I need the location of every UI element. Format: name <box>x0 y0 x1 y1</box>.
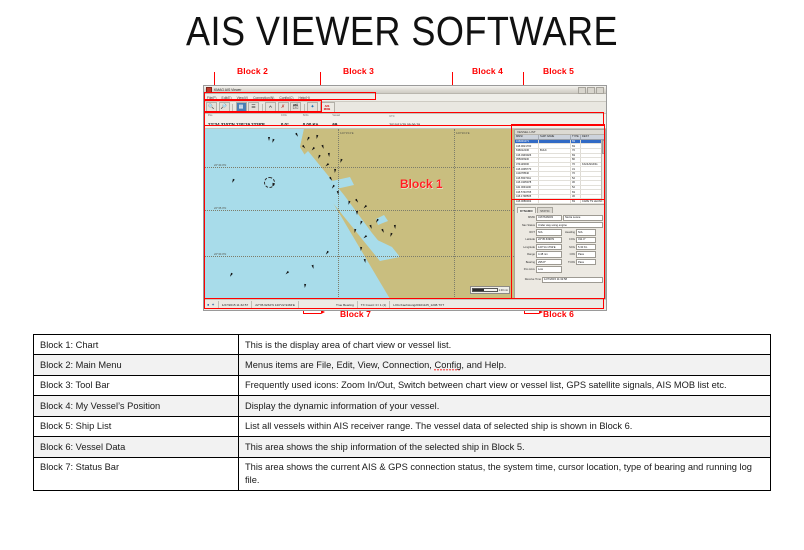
window-controls[interactable] <box>578 87 604 94</box>
latitude-label: Latitude <box>517 238 535 241</box>
position-field: Pos 22°34.3107'N 120°19.2228'E <box>208 122 265 127</box>
rot-value: N/A <box>536 229 562 235</box>
field-row-bearing-tcpa: Bearing 295.8° TCPA Pass <box>517 259 603 265</box>
cell-mmsi: 355006930 <box>515 158 539 162</box>
receive-time-label: Receive Time <box>517 278 541 281</box>
latitude-label: 22°35.0'N <box>214 206 226 210</box>
latitude-gridline <box>204 167 514 168</box>
vessel-marker[interactable] <box>268 137 270 141</box>
field-row-rot-heading: ROT N/A Heading N/A <box>517 229 603 235</box>
minimize-button[interactable] <box>578 87 586 94</box>
range-label: Range <box>517 253 535 256</box>
cell-type: 70 <box>571 172 581 176</box>
ship-list-scrollbar[interactable] <box>601 140 605 202</box>
tool-bar[interactable]: 🔍 🔎 ▦ ☰ ⍲ ✗ 🗃 ✦ AISMOB <box>204 102 606 114</box>
pos-accuracy-label: Pos Accu <box>517 268 535 271</box>
my-vessel-position-bar: Pos 22°34.3107'N 120°19.2228'E COG 0.0° … <box>204 114 606 129</box>
ais-viewer-window: KMAG AIS Viewer File(F) Edit(E) View(V) … <box>203 85 607 311</box>
cog-field: COG 0.0° <box>281 122 289 127</box>
misspelled-word: Config <box>434 360 461 371</box>
rot-label: ROT <box>517 231 535 234</box>
cell-block-name: Block 4: My Vessel’s Position <box>34 396 239 416</box>
cell-mmsi: 416 4993026 <box>515 154 539 158</box>
cell-mmsi: 416 9621700 <box>515 144 539 148</box>
cpa-value: Pass <box>576 251 596 257</box>
range-value: 4.48 nm <box>536 251 562 257</box>
vessel-list-icon[interactable]: ☰ <box>248 102 259 113</box>
field-row-longitude-sog: Longitude 120°14.1792'E SOG 5.30 Kn <box>517 244 603 250</box>
status-connection-icons: ● ✦ <box>204 301 219 308</box>
menu-item-file[interactable]: File(F) <box>207 96 217 100</box>
tcpa-value: Pass <box>576 259 596 265</box>
field-row-pos-accuracy: Pos Accu Low <box>517 266 603 272</box>
window-titlebar: KMAG AIS Viewer <box>204 86 606 94</box>
table-row: Block 2: Main Menu Menus items are File,… <box>34 355 771 375</box>
status-bar: ● ✦ 1/27/2015 11:32:57 22°35.6232'N 120°… <box>204 299 606 309</box>
cog-label: COG <box>563 238 575 241</box>
desc-text-pre: Menus items are File, Edit, View, Connec… <box>245 360 434 370</box>
field-row-mmsi: MMSI 4167646003 Sierra Leone <box>517 215 603 221</box>
table-row: Block 3: Tool Bar Frequently used icons:… <box>34 375 771 395</box>
cell-shipname <box>539 195 571 199</box>
cell-shipname <box>539 186 571 190</box>
status-cursor-location: 22°35.6232'N 120°22.9484'E <box>252 301 299 308</box>
heading-label: Heading <box>563 231 575 234</box>
toolbar-separator <box>304 104 305 112</box>
cell-type: 70 <box>571 163 581 167</box>
cell-block-desc: Menus items are File, Edit, View, Connec… <box>239 355 771 375</box>
cog-value: 0.0° <box>281 122 289 127</box>
cell-block-desc: Frequently used icons: Zoom In/Out, Swit… <box>239 375 771 395</box>
cell-mmsi: 636012236 <box>515 149 539 153</box>
cpa-label: CPA <box>563 253 575 256</box>
mmsi-label: MMSI <box>517 216 535 219</box>
chart-display-area[interactable]: 22°40.0'N 22°35.0'N 22°30.0'N 120°15.0'E… <box>204 129 514 299</box>
tcpa-label: TCPA <box>563 261 575 264</box>
field-row-latitude-cog: Latitude 22°35.6390'N COG 311.4° <box>517 237 603 243</box>
cell-block-desc: This area shows the ship information of … <box>239 437 771 457</box>
annotation-block4-label: Block 4 <box>472 66 503 76</box>
cell-type: 31 <box>571 167 581 171</box>
vessel-data-panel: DYNAMIC STATIC MMSI 4167646003 Sierra Le… <box>514 205 606 299</box>
cell-shipname <box>539 190 571 194</box>
cell-type: 36 <box>571 195 581 199</box>
sog-field: SOG 0.00 Kn <box>303 122 319 127</box>
cell-block-name: Block 6: Vessel Data <box>34 437 239 457</box>
maximize-button[interactable] <box>587 87 595 94</box>
cell-mmsi: 441 0091100 <box>515 186 539 190</box>
cell-mmsi: 416001271 <box>515 140 539 144</box>
latitude-label: 22°40.0'N <box>214 163 226 167</box>
desc-text-post: , and Help. <box>461 360 506 370</box>
table-row: Block 4: My Vessel’s Position Display th… <box>34 396 771 416</box>
receive-time-value: 1/27/2015 11:32:58 <box>542 277 603 283</box>
vessel-marker[interactable] <box>364 259 367 263</box>
close-button[interactable] <box>596 87 604 94</box>
cell-shipname: BULK <box>539 149 571 153</box>
cell-block-desc: List all vessels within AIS receiver ran… <box>239 416 771 436</box>
sog-value: 0.00 Kn <box>303 122 319 127</box>
track-icon[interactable]: ✗ <box>278 102 289 113</box>
cog-value: 311.4° <box>576 237 596 243</box>
sog-label: SOG <box>303 114 309 117</box>
table-row: Block 5: Ship List List all vessels with… <box>34 416 771 436</box>
cell-type: 80 <box>571 158 581 162</box>
toolbar-separator <box>262 104 263 112</box>
latitude-value: 22°35.6390'N <box>536 237 562 243</box>
cell-shipname <box>539 154 571 158</box>
status-datetime: 1/27/2015 11:32:57 <box>219 301 252 308</box>
sog-label: SOG <box>563 246 575 249</box>
cell-block-name: Block 5: Ship List <box>34 416 239 436</box>
cell-shipname <box>539 167 571 171</box>
table-row: Block 6: Vessel Data This area shows the… <box>34 437 771 457</box>
vessel-marker[interactable] <box>356 211 358 215</box>
position-value: 22°34.3107'N 120°19.2228'E <box>208 122 265 127</box>
status-bearing-type: True Bearing <box>333 301 358 308</box>
vessel-count-field: Vessel 69 <box>332 122 337 127</box>
annotation-block5-label: Block 5 <box>543 66 574 76</box>
cell-mmsi: 416 5740765 <box>515 190 539 194</box>
cell-type: 69 <box>571 140 581 144</box>
longitude-value: 120°14.1792'E <box>536 244 562 250</box>
cell-type: 30 <box>571 181 581 185</box>
column-header-dest[interactable]: DEST <box>581 135 605 139</box>
annotated-screenshot: Block 2 Block 3 Block 4 Block 5 Block 7 … <box>0 60 804 330</box>
ais-connection-icon: ● <box>207 302 209 307</box>
longitude-label: 120°20.0'E <box>456 131 470 135</box>
mmsi-country-value: Sierra Leone <box>563 215 603 221</box>
menu-item-edit[interactable]: Edit(E) <box>222 96 232 100</box>
save-icon[interactable]: 🗃 <box>290 102 301 113</box>
zoom-out-icon[interactable]: 🔎 <box>219 102 230 113</box>
field-row-nav-status: Nav Status Under way using engine <box>517 222 603 228</box>
tab-static[interactable]: STATIC <box>537 207 553 213</box>
cell-mmsi: 374126000 <box>515 163 539 167</box>
cell-shipname <box>539 158 571 162</box>
ais-mob-button[interactable]: AISMOB <box>320 102 335 113</box>
cell-mmsi: 416 3295770 <box>515 167 539 171</box>
field-row-range-cpa: Range 4.48 nm CPA Pass <box>517 251 603 257</box>
cell-block-desc: This is the display area of chart view o… <box>239 335 771 355</box>
window-title-text: KMAG AIS Viewer <box>214 88 241 92</box>
status-tx-count: TX Count: 0 / 1 (1) <box>358 301 390 308</box>
longitude-label: 120°15.0'E <box>340 131 354 135</box>
page-title: AIS VIEWER SOFTWARE <box>48 8 756 55</box>
cell-block-desc: This area shows the current AIS & GPS co… <box>239 457 771 490</box>
position-label: Pos <box>208 114 212 117</box>
gps-satellite-icon[interactable]: ✦ <box>307 102 318 113</box>
utc-value: 2010/11/25 09:36:29 <box>389 123 420 127</box>
sog-value: 5.30 Kn <box>576 244 596 250</box>
gps-connection-icon: ✦ <box>211 302 214 307</box>
cell-type: 70 <box>571 149 581 153</box>
status-log-file: LOG:Kaohsiung20101125_1208.TXT <box>390 301 447 308</box>
table-row: Block 1: Chart This is the display area … <box>34 335 771 355</box>
target-icon[interactable]: ⍲ <box>265 102 276 113</box>
vessel-marker[interactable] <box>334 169 336 173</box>
cell-shipname <box>539 140 571 144</box>
column-header-type[interactable]: TYPE <box>571 135 581 139</box>
table-row[interactable]: 416 0086002 69 CAPE TS LEUNG <box>515 199 605 204</box>
latitude-gridline <box>204 210 514 211</box>
table-row: Block 7: Status Bar This area shows the … <box>34 457 771 490</box>
vessel-count-label: Vessel <box>332 114 340 117</box>
cell-type: 52 <box>571 186 581 190</box>
ship-list-panel[interactable]: VESSEL LIST MMSI SHIP NAME TYPE DEST 416… <box>514 129 606 205</box>
longitude-label: Longitude <box>517 246 535 249</box>
vessel-marker[interactable] <box>360 247 362 251</box>
vessel-marker[interactable] <box>304 284 306 288</box>
chart-scale-bar: 1.00 nm <box>470 286 510 294</box>
cell-shipname <box>539 181 571 185</box>
scale-bar-graphic <box>472 288 498 293</box>
cell-type: 69 <box>571 190 581 194</box>
cell-type: 69 <box>571 144 581 148</box>
nav-status-value: Under way using engine <box>536 222 603 228</box>
cell-type: 69 <box>571 199 581 203</box>
cell-mmsi: 413278540 <box>515 172 539 176</box>
bearing-value: 295.8° <box>536 259 562 265</box>
annotation-block3-label: Block 3 <box>343 66 374 76</box>
vessel-count-value: 69 <box>332 122 337 127</box>
right-panel-column: VESSEL LIST MMSI SHIP NAME TYPE DEST 416… <box>514 129 606 299</box>
utc-field: UTC 2010/11/25 09:36:29 <box>389 123 420 127</box>
vessel-marker[interactable] <box>394 225 396 229</box>
longitude-gridline <box>338 129 339 299</box>
pos-accuracy-value: Low <box>536 266 562 272</box>
menu-item-view[interactable]: View(V) <box>237 96 248 100</box>
cell-shipname <box>539 144 571 148</box>
cell-mmsi: 416 4305078 <box>515 181 539 185</box>
longitude-gridline <box>454 129 455 299</box>
heading-value: N/A <box>576 229 596 235</box>
cell-type: 69 <box>571 154 581 158</box>
annotation-block1-label: Block 1 <box>400 177 443 191</box>
zoom-in-icon[interactable]: 🔍 <box>206 102 217 113</box>
cog-label: COG <box>281 114 287 117</box>
vessel-marker[interactable] <box>328 153 330 157</box>
mmsi-value: 4167646003 <box>536 215 562 221</box>
cell-block-name: Block 2: Main Menu <box>34 355 239 375</box>
field-row-receive-time: Receive Time 1/27/2015 11:32:58 <box>517 277 603 283</box>
cell-shipname <box>539 199 571 203</box>
vessel-marker[interactable] <box>337 191 340 195</box>
bearing-label: Bearing <box>517 261 535 264</box>
scrollbar-thumb[interactable] <box>602 140 607 154</box>
column-header-shipname[interactable]: SHIP NAME <box>539 135 571 139</box>
tab-dynamic[interactable]: DYNAMIC <box>517 207 536 213</box>
menu-item-connection[interactable]: Connection(N) <box>253 96 274 100</box>
cell-mmsi: 416 6537011 <box>515 177 539 181</box>
latitude-label: 22°30.0'N <box>214 252 226 256</box>
cell-shipname <box>539 172 571 176</box>
coastline-shape <box>204 129 514 299</box>
chart-view-icon[interactable]: ▦ <box>236 102 247 113</box>
menu-item-help[interactable]: Help(H) <box>298 96 309 100</box>
annotation-block2-label: Block 2 <box>237 66 268 76</box>
nav-status-label: Nav Status <box>517 224 535 227</box>
scale-bar-text: 1.00 nm <box>499 289 508 292</box>
app-body: 22°40.0'N 22°35.0'N 22°30.0'N 120°15.0'E… <box>204 129 606 299</box>
latitude-gridline <box>204 256 514 257</box>
cell-shipname <box>539 163 571 167</box>
cell-block-name: Block 3: Tool Bar <box>34 375 239 395</box>
menu-item-config[interactable]: Config(C) <box>279 96 293 100</box>
cell-shipname <box>539 177 571 181</box>
app-logo-icon <box>206 87 212 93</box>
cell-mmsi: 416 0086002 <box>515 199 539 203</box>
main-menu-bar[interactable]: File(F) Edit(E) View(V) Connection(N) Co… <box>204 94 606 102</box>
column-header-mmsi[interactable]: MMSI <box>515 135 539 139</box>
vessel-data-tabs[interactable]: DYNAMIC STATIC <box>517 207 603 213</box>
cell-block-name: Block 1: Chart <box>34 335 239 355</box>
cell-block-name: Block 7: Status Bar <box>34 457 239 490</box>
cell-type: 52 <box>571 177 581 181</box>
cell-block-desc: Display the dynamic information of your … <box>239 396 771 416</box>
toolbar-separator <box>232 104 233 112</box>
utc-label: UTC <box>389 115 394 118</box>
cell-mmsi: 416 1798505 <box>515 195 539 199</box>
block-legend-table: Block 1: Chart This is the display area … <box>33 334 771 491</box>
